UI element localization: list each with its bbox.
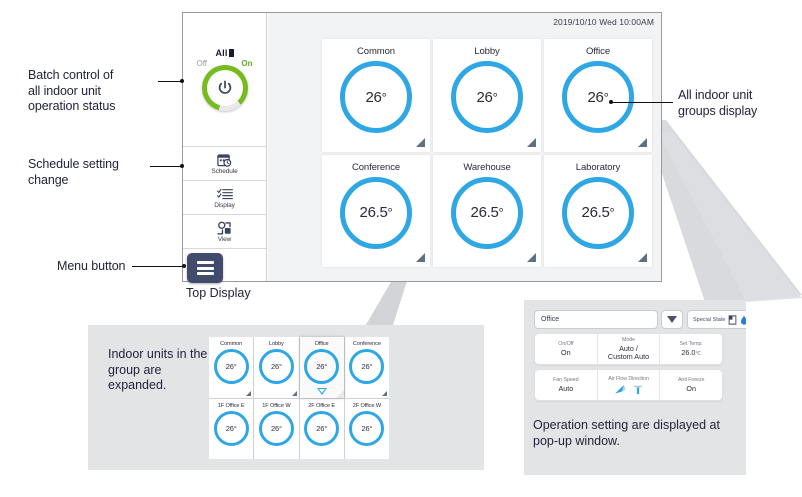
setting-header: Fan Speed <box>553 377 578 383</box>
leader-dot-menu <box>182 264 186 268</box>
leader-line-menu <box>132 266 184 267</box>
unit-card-1f-office-w[interactable]: 1F Office W 26° <box>254 399 298 460</box>
unit-temperature-value: 26° <box>362 362 373 371</box>
temperature-value: 26° <box>366 89 387 106</box>
menu-button[interactable] <box>187 253 223 283</box>
sidebar-item-view[interactable]: View <box>183 215 266 249</box>
unit-card-1f-office-e[interactable]: 1F Office E 26° <box>209 399 253 460</box>
view-swap-icon <box>217 221 232 236</box>
unit-card-common[interactable]: Common 26° <box>209 337 253 398</box>
unit-name: 1F Office W <box>262 403 290 409</box>
group-name: Lobby <box>474 46 499 57</box>
unit-name: Lobby <box>269 341 284 347</box>
unit-temperature-value: 26° <box>226 424 237 433</box>
unit-temperature-value: 26° <box>362 424 373 433</box>
expanded-group-panel: Indoor units in the group are expanded. … <box>88 325 484 470</box>
unit-temperature-dial: 26° <box>259 349 294 384</box>
temperature-dial: 26.5° <box>340 177 412 249</box>
group-card-lobby[interactable]: Lobby 26° <box>433 39 541 152</box>
expand-corner-icon[interactable] <box>527 253 536 262</box>
water-drop-icon <box>740 315 746 325</box>
group-card-grid: Common 26° Lobby 26° Office 26° <box>322 39 652 267</box>
expand-corner-icon[interactable] <box>246 391 251 396</box>
selected-pointer-inner <box>319 389 325 393</box>
setting-header: Mode <box>622 337 635 343</box>
power-icon <box>216 79 234 97</box>
leader-line-batch <box>158 81 182 82</box>
side-rail: All Off On <box>183 13 267 281</box>
group-select-field[interactable]: Office <box>534 310 658 329</box>
annotation-popup-note: Operation setting are displayed at pop-u… <box>533 418 743 449</box>
expand-corner-icon[interactable] <box>638 138 647 147</box>
temperature-dial: 26° <box>562 61 634 133</box>
annotation-schedule: Schedule setting change <box>28 157 158 188</box>
setting-onoff[interactable]: On/Off On <box>535 334 598 364</box>
sidebar-label-display: Display <box>214 202 235 209</box>
hamburger-menu-icon <box>197 259 214 278</box>
sidebar-label-schedule: Schedule <box>211 168 237 175</box>
group-card-laboratory[interactable]: Laboratory 26.5° <box>544 155 652 268</box>
settings-row-2: Fan Speed Auto Air Flow Direction <box>534 369 723 401</box>
sidebar-item-display[interactable]: Display <box>183 181 266 215</box>
setting-header: Set Temp. <box>680 341 703 347</box>
unit-name: Conference <box>353 341 381 347</box>
top-display-caption: Top Display <box>186 286 251 300</box>
group-select-value: Office <box>541 316 559 323</box>
unit-card-conference[interactable]: Conference 26° <box>345 337 389 398</box>
special-state-bar: Special State <box>687 310 746 329</box>
setting-value: 26.0℃ <box>681 349 701 358</box>
setting-header: Air Flow Direction <box>608 376 648 382</box>
unit-temperature-value: 26° <box>226 362 237 371</box>
setting-header: On/Off <box>558 341 573 347</box>
unit-name: 2F Office E <box>308 403 335 409</box>
popup-clip: Office Special State <box>524 300 746 410</box>
temperature-value: 26.5° <box>582 204 615 221</box>
group-select-dropdown-button[interactable] <box>661 310 683 329</box>
group-name: Common <box>357 46 395 57</box>
all-label-row: All <box>215 48 233 58</box>
group-card-warehouse[interactable]: Warehouse 26.5° <box>433 155 541 268</box>
group-name: Office <box>586 46 610 57</box>
setting-value: Auto <box>558 385 573 393</box>
expand-corner-icon[interactable] <box>416 253 425 262</box>
setting-value: Auto / Custom Auto <box>608 345 649 361</box>
top-display-device: All Off On <box>182 12 662 282</box>
temperature-dial: 26.5° <box>451 177 523 249</box>
unit-temperature-value: 26° <box>271 362 282 371</box>
sidebar-label-view: View <box>218 236 232 243</box>
unit-card-2f-office-w[interactable]: 2F Office W 26° <box>345 399 389 460</box>
unit-temperature-dial: 26° <box>259 411 294 446</box>
annotation-expanded-note: Indoor units in the group are expanded. <box>108 347 218 394</box>
group-name: Warehouse <box>463 162 510 173</box>
annotation-menu-button: Menu button <box>57 259 125 275</box>
calendar-state-icon <box>728 315 737 325</box>
airflow-down-icon <box>632 384 644 395</box>
setting-mode[interactable]: Mode Auto / Custom Auto <box>598 334 661 364</box>
expanded-unit-grid: Common 26° Lobby 26° Office 26° Conferen… <box>209 337 389 459</box>
leader-line-groups <box>611 102 673 103</box>
unit-temperature-dial: 26° <box>349 411 384 446</box>
expand-corner-icon[interactable] <box>382 391 387 396</box>
operation-settings-popup: Office Special State <box>534 310 746 398</box>
clock-text: 2019/10/10 Wed 10:00AM <box>553 17 654 27</box>
annotation-batch-control: Batch control of all indoor unit operati… <box>28 68 158 115</box>
group-card-conference[interactable]: Conference 26.5° <box>322 155 430 268</box>
unit-temperature-value: 26° <box>316 424 327 433</box>
power-inner <box>207 70 243 106</box>
unit-name: Office <box>315 341 329 347</box>
popup-header-row: Office Special State <box>534 310 746 329</box>
leader-dot-groups <box>609 100 613 104</box>
unit-temperature-value: 26° <box>271 424 282 433</box>
unit-card-lobby[interactable]: Lobby 26° <box>254 337 298 398</box>
temperature-dial: 26° <box>451 61 523 133</box>
unit-temperature-dial: 26° <box>304 411 339 446</box>
setting-air-flow-direction[interactable]: Air Flow Direction <box>598 370 661 400</box>
unit-name: Common <box>220 341 242 347</box>
unit-temperature-dial: 26° <box>349 349 384 384</box>
temperature-dial: 26° <box>340 61 412 133</box>
popup-explainer-panel: Office Special State <box>524 300 746 475</box>
unit-temperature-dial: 26° <box>214 349 249 384</box>
airflow-swing-icon <box>614 384 627 395</box>
airflow-icons <box>614 384 644 395</box>
leader-dot-batch <box>180 79 184 83</box>
annotation-all-groups: All indoor unit groups display <box>678 88 798 119</box>
all-label: All <box>215 48 227 58</box>
setting-value: On <box>561 349 571 357</box>
settings-row-1: On/Off On Mode Auto / Custom Auto Set Te… <box>534 333 723 365</box>
unit-name: 2F Office W <box>353 403 381 409</box>
setting-header: Anti Freeze <box>678 377 704 383</box>
group-name: Laboratory <box>576 162 620 173</box>
group-card-common[interactable]: Common 26° <box>322 39 430 152</box>
temperature-dial: 26.5° <box>562 177 634 249</box>
checklist-icon <box>217 187 233 202</box>
temperature-value: 26.5° <box>471 204 504 221</box>
temperature-value: 26.5° <box>360 204 393 221</box>
expand-corner-icon[interactable] <box>527 138 536 147</box>
group-name: Conference <box>352 162 400 173</box>
leader-dot-schedule <box>180 164 184 168</box>
unit-card-office[interactable]: Office 26° <box>300 337 344 398</box>
temperature-value: 26° <box>588 89 609 106</box>
setting-value: On <box>686 385 696 393</box>
unit-card-2f-office-e[interactable]: 2F Office E 26° <box>300 399 344 460</box>
unit-temperature-value: 26° <box>316 362 327 371</box>
expand-corner-icon[interactable] <box>416 138 425 147</box>
setting-fan-speed[interactable]: Fan Speed Auto <box>535 370 598 400</box>
sidebar-item-schedule[interactable]: Schedule <box>183 147 266 181</box>
power-toggle-button[interactable] <box>202 65 248 111</box>
calendar-clock-icon <box>217 153 232 168</box>
unit-temperature-dial: 26° <box>214 411 249 446</box>
unit-name: 1F Office E <box>218 403 245 409</box>
card-fold-corner <box>336 390 344 398</box>
setting-anti-freeze[interactable]: Anti Freeze On <box>660 370 722 400</box>
groups-display-area: 2019/10/10 Wed 10:00AM Common 26° Lobby … <box>268 13 661 281</box>
group-card-office[interactable]: Office 26° <box>544 39 652 152</box>
setting-set-temp[interactable]: Set Temp. 26.0℃ <box>660 334 722 364</box>
batch-power-control[interactable]: All Off On <box>183 13 266 147</box>
special-state-label: Special State <box>693 317 725 323</box>
filter-caret-icon <box>667 316 677 323</box>
unit-temperature-dial: 26° <box>304 349 339 384</box>
expand-corner-icon[interactable] <box>638 253 647 262</box>
leader-line-schedule <box>150 166 182 167</box>
expand-corner-icon[interactable] <box>292 391 297 396</box>
temperature-value: 26° <box>477 89 498 106</box>
